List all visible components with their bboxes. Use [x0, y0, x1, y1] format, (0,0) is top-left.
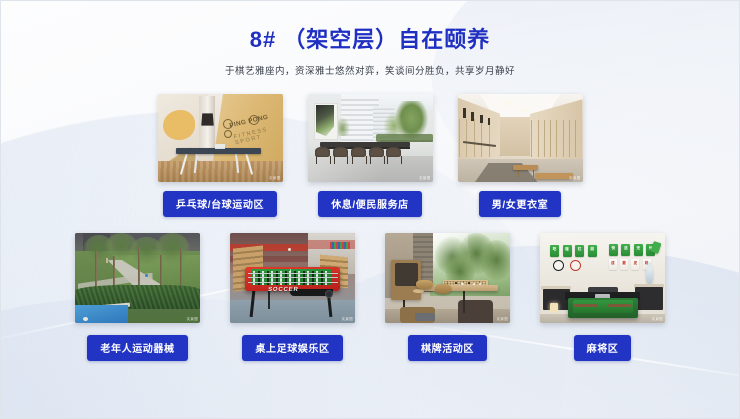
thumbnail-go-board-room[interactable]: 实景图: [385, 233, 510, 323]
mahjong-tile: 杠: [575, 245, 584, 257]
page-subtitle: 于棋艺雅座内，资深雅士悠然对弈，笑谈间分胜负，共享岁月静好: [1, 63, 739, 77]
amenity-label-ping-pong[interactable]: 乒乓球/台球运动区: [163, 191, 277, 217]
mahjong-tile-white: 成: [609, 259, 617, 270]
mahjong-tile: 碰: [563, 245, 572, 257]
amenity-card[interactable]: SOCCER 实景图 桌上足球娱乐区: [230, 233, 355, 361]
amenity-card[interactable]: 实景图 休息/便民服务店: [308, 94, 433, 217]
page-title: 8# （架空层）自在颐养: [1, 27, 739, 53]
mahjong-tile-white: 发: [631, 259, 639, 270]
amenity-card[interactable]: PING PONG FITNESS SPORT 实景图 乒乓球/台球运动区: [158, 94, 283, 217]
image-watermark: 实景图: [497, 317, 508, 322]
mahjong-circle-tile-red: [570, 260, 581, 271]
amenity-label-chess-cards[interactable]: 棋牌活动区: [408, 335, 487, 361]
amenity-card[interactable]: 吃 碰 杠 胡 快 活 无 忧 成 要 发 财: [540, 233, 665, 361]
image-watermark: 实景图: [652, 317, 663, 322]
foosball-brand-text: SOCCER: [267, 287, 298, 293]
amenity-card[interactable]: 实景图 棋牌活动区: [385, 233, 510, 361]
amenity-label-mahjong[interactable]: 麻将区: [574, 335, 632, 361]
image-watermark: 实景图: [342, 317, 353, 322]
amenity-label-changing-room[interactable]: 男/女更衣室: [479, 191, 561, 217]
image-watermark: 实景图: [269, 176, 280, 181]
image-watermark: 实景图: [569, 176, 580, 181]
mahjong-tile: 快: [609, 244, 618, 256]
amenity-label-elderly-fitness[interactable]: 老年人运动器械: [87, 335, 187, 361]
amenity-card[interactable]: 实景图 老年人运动器械: [75, 233, 200, 361]
thumbnail-locker-room[interactable]: 实景图: [458, 94, 583, 182]
image-watermark: 实景图: [419, 176, 430, 181]
amenity-row-1: PING PONG FITNESS SPORT 实景图 乒乓球/台球运动区: [1, 94, 739, 217]
thumbnail-outdoor-lounge[interactable]: 实景图: [308, 94, 433, 182]
thumbnail-mahjong-room[interactable]: 吃 碰 杠 胡 快 活 无 忧 成 要 发 财: [540, 233, 665, 323]
amenity-card[interactable]: 实景图 男/女更衣室: [458, 94, 583, 217]
amenity-label-rest-service[interactable]: 休息/便民服务店: [318, 191, 422, 217]
mahjong-tile-white: 要: [620, 259, 628, 270]
slide-canvas: 8# （架空层）自在颐养 于棋艺雅座内，资深雅士悠然对弈，笑谈间分胜负，共享岁月…: [0, 0, 740, 419]
mahjong-tile: 吃: [550, 245, 559, 257]
amenity-row-2: 实景图 老年人运动器械 SOCCER: [1, 233, 739, 361]
mahjong-tile: 胡: [588, 245, 597, 257]
thumbnail-foosball[interactable]: SOCCER 实景图: [230, 233, 355, 323]
image-watermark: 实景图: [187, 317, 198, 322]
mahjong-tile: 活: [621, 244, 630, 256]
thumbnail-ping-pong-room[interactable]: PING PONG FITNESS SPORT 实景图: [158, 94, 283, 182]
thumbnail-garden-fitness[interactable]: 实景图: [75, 233, 200, 323]
mahjong-circle-tile-black: [553, 260, 564, 271]
amenity-label-table-soccer[interactable]: 桌上足球娱乐区: [242, 335, 342, 361]
mahjong-tile: 无: [634, 244, 643, 256]
slide-header: 8# （架空层）自在颐养 于棋艺雅座内，资深雅士悠然对弈，笑谈间分胜负，共享岁月…: [1, 1, 739, 77]
